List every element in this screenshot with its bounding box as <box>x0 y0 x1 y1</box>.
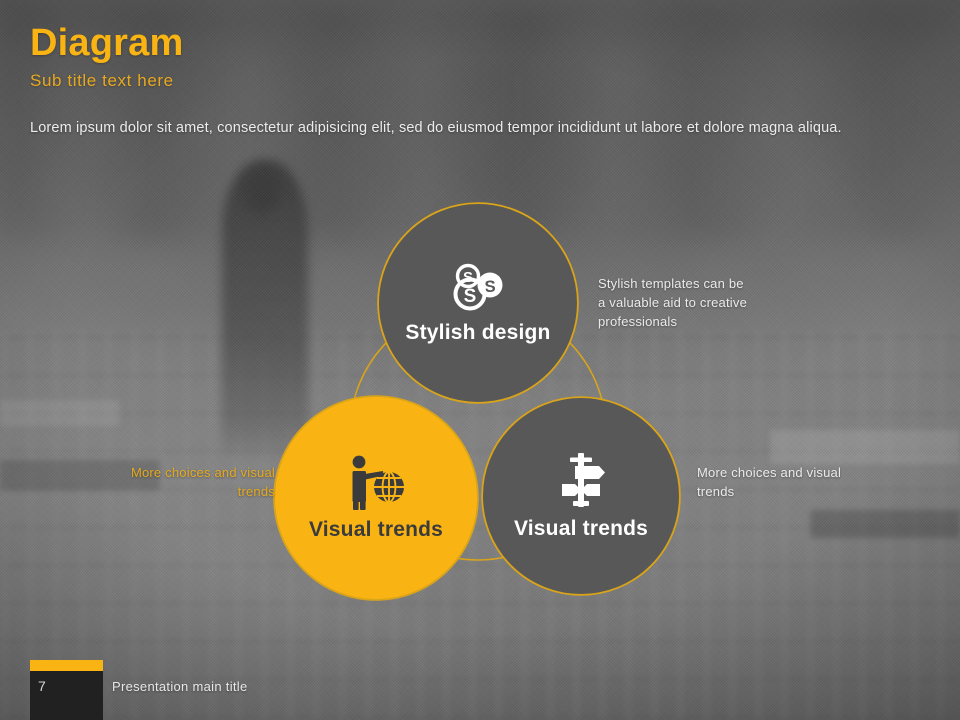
diagram-node-label: Visual trends <box>514 517 648 541</box>
page-number: 7 <box>38 678 46 694</box>
footer-accent-bar <box>30 660 103 671</box>
diagram-caption-left: More choices and visual trends <box>130 464 275 502</box>
person-globe-icon <box>344 454 408 510</box>
footer-presentation-title: Presentation main title <box>112 679 248 694</box>
diagram-caption-right: More choices and visual trends <box>697 464 847 502</box>
footer-page-badge: 7 <box>30 660 103 720</box>
diagram-node-label: Stylish design <box>405 321 550 345</box>
venn-diagram: S S S Stylish design <box>0 0 960 720</box>
signpost-icon <box>552 451 610 509</box>
diagram-caption-stylish-design: Stylish templates can be a valuable aid … <box>598 275 748 332</box>
diagram-node-visual-trends-left[interactable]: Visual trends <box>274 396 478 600</box>
svg-text:S: S <box>463 269 473 286</box>
dollar-coins-icon: S S S <box>448 261 508 313</box>
diagram-node-label: Visual trends <box>309 518 443 542</box>
slide-canvas: Diagram Sub title text here Lorem ipsum … <box>0 0 960 720</box>
diagram-node-stylish-design[interactable]: S S S Stylish design <box>378 203 578 403</box>
diagram-node-visual-trends-right[interactable]: Visual trends <box>482 397 680 595</box>
svg-text:S: S <box>464 286 477 307</box>
